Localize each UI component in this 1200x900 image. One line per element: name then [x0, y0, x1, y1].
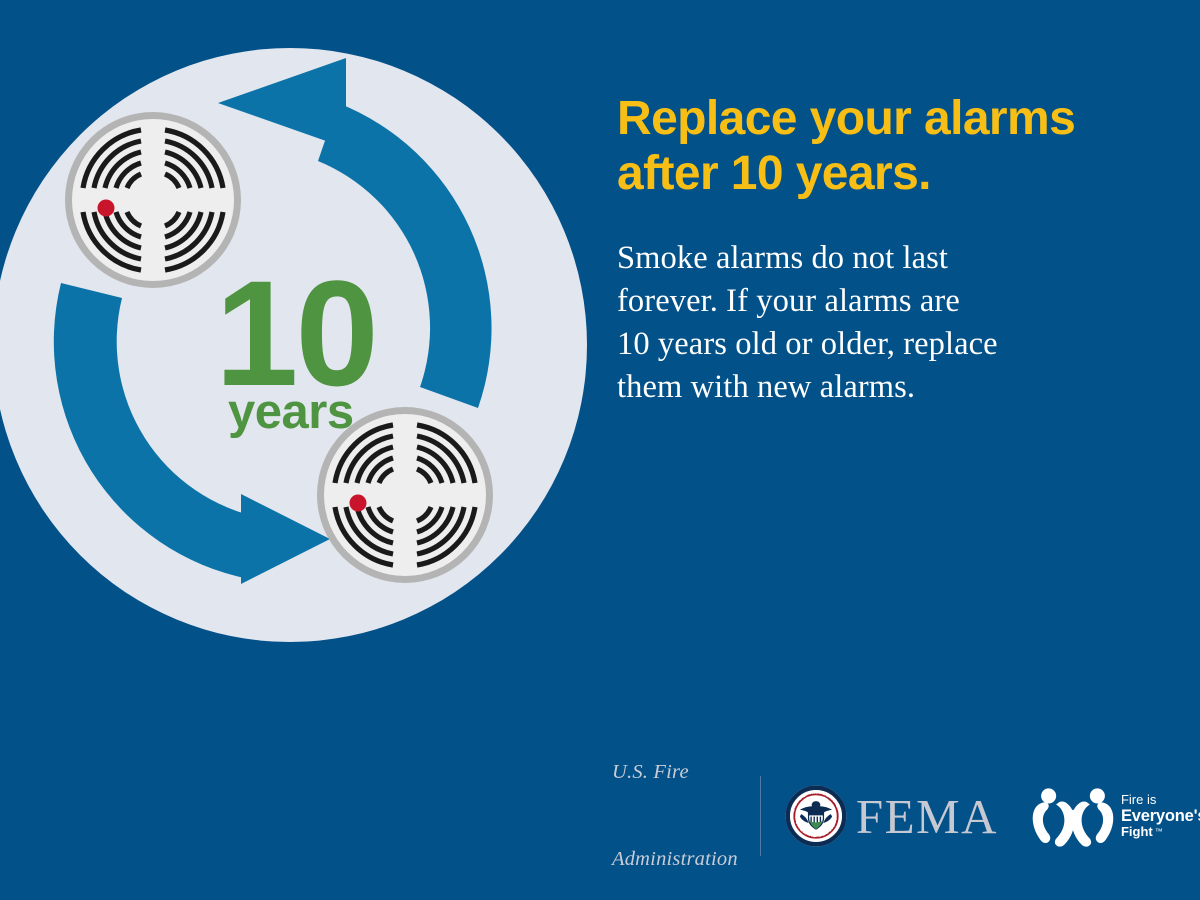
poster-canvas: 10 years Replace your alarms after 10 ye… [0, 0, 1200, 900]
fief-line-3: Fight™ [1121, 825, 1200, 839]
usfa-line-2: Administration [612, 845, 738, 874]
footer-logo-bar: U.S. Fire Administration U.S. DEPARTMENT… [612, 766, 1172, 866]
usfa-wordmark: U.S. Fire Administration [612, 700, 760, 900]
fief-line-3-word: Fight [1121, 824, 1153, 839]
fief-line-1: Fire is [1121, 793, 1200, 807]
fief-figures-flame-icon [1030, 785, 1116, 847]
fire-is-everyones-fight-lockup: Fire is Everyone's Fight™ [1030, 785, 1200, 847]
headline-line-2: after 10 years. [617, 147, 1182, 202]
footer-divider [760, 776, 761, 856]
body-line-1: Smoke alarms do not last [617, 237, 1182, 280]
replacement-cycle-graphic: 10 years [0, 0, 620, 720]
body-line-2: forever. If your alarms are [617, 280, 1182, 323]
usfa-line-1: U.S. Fire [612, 758, 738, 787]
fief-line-2: Everyone's [1121, 807, 1200, 825]
fema-wordmark: FEMA [856, 792, 998, 841]
headline-line-1: Replace your alarms [617, 92, 1182, 147]
smoke-alarm-old [65, 112, 241, 288]
fief-tagline: Fire is Everyone's Fight™ [1121, 793, 1200, 840]
page-title: Replace your alarms after 10 years. [617, 92, 1182, 201]
body-line-4: them with new alarms. [617, 366, 1182, 409]
body-text: Smoke alarms do not last forever. If you… [617, 237, 1182, 409]
smoke-alarm-new [317, 407, 493, 583]
cycle-center-label: 10 years [215, 249, 376, 439]
dhs-seal-icon: U.S. DEPARTMENT OF HOMELAND SECURITY [785, 785, 847, 847]
cycle-years-unit: years [228, 385, 354, 439]
copy-column: Replace your alarms after 10 years. Smok… [617, 92, 1182, 409]
fief-trademark: ™ [1155, 827, 1163, 836]
body-line-3: 10 years old or older, replace [617, 323, 1182, 366]
